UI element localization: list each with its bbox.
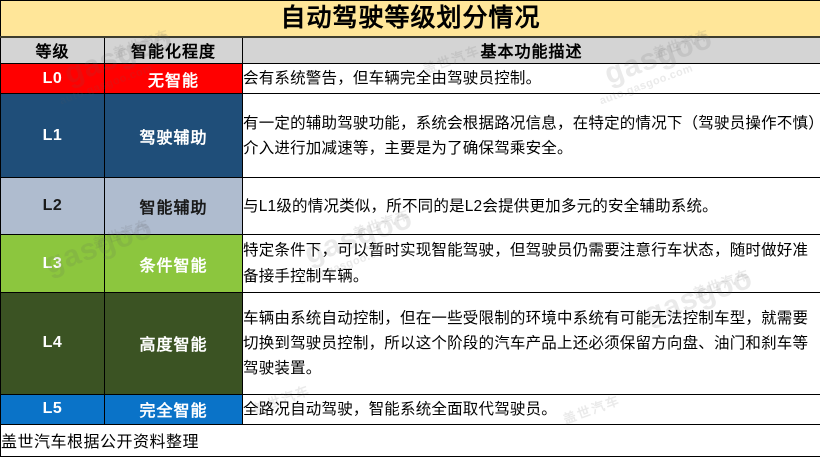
description-cell: 与L1级的情况类似，所不同的是L2会提供更加多元的安全辅助系统。 [243, 178, 820, 235]
table-row: L3 条件智能 特定条件下，可以暂时实现智能驾驶，但驾驶员仍需要注意行车状态，随… [1, 235, 820, 292]
level-cell: L0 [1, 64, 105, 94]
level-label: L5 [43, 400, 63, 417]
level-cell: L4 [1, 292, 105, 394]
description-text: 有一定的辅助驾驶功能，系统会根据路况信息，在特定的情况下（驾驶员操作不慎）介入进… [243, 111, 820, 161]
level-label: L0 [43, 70, 63, 87]
level-label: L2 [43, 197, 63, 214]
title-row: 自动驾驶等级划分情况 [1, 1, 820, 37]
degree-cell: 条件智能 [105, 235, 243, 292]
table-row: L5 完全智能 全路况自动驾驶，智能系统全面取代驾驶员。 [1, 394, 820, 424]
degree-label: 高度智能 [139, 337, 207, 354]
table-row: L4 高度智能 车辆由系统自动控制，但在一些受限制的环境中系统有可能无法控制车型… [1, 292, 820, 394]
degree-label: 智能辅助 [139, 200, 207, 217]
level-label: L3 [43, 255, 63, 272]
description-text: 与L1级的情况类似，所不同的是L2会提供更加多元的安全辅助系统。 [243, 194, 820, 219]
title-cell: 自动驾驶等级划分情况 [1, 1, 820, 37]
column-header-description: 基本功能描述 [243, 37, 820, 64]
level-cell: L5 [1, 394, 105, 424]
level-label: L1 [43, 127, 63, 144]
column-header-level: 等级 [1, 37, 105, 64]
level-label: L4 [43, 334, 63, 351]
degree-cell: 驾驶辅助 [105, 94, 243, 178]
source-note-cell: 盖世汽车根据公开资料整理 [1, 424, 820, 456]
footer-row: 盖世汽车根据公开资料整理 [1, 424, 820, 456]
source-note: 盖世汽车根据公开资料整理 [1, 434, 199, 451]
level-cell: L1 [1, 94, 105, 178]
description-text: 会有系统警告，但车辆完全由驾驶员控制。 [243, 66, 820, 91]
degree-cell: 高度智能 [105, 292, 243, 394]
degree-cell: 智能辅助 [105, 178, 243, 235]
description-cell: 全路况自动驾驶，智能系统全面取代驾驶员。 [243, 394, 820, 424]
description-cell: 车辆由系统自动控制，但在一些受限制的环境中系统有可能无法控制车型，就需要切换到驾… [243, 292, 820, 394]
table-row: L0 无智能 会有系统警告，但车辆完全由驾驶员控制。 [1, 64, 820, 94]
degree-label: 条件智能 [139, 258, 207, 275]
autonomous-driving-levels-table: gasgoo auto.gasgoo.com 盖世汽车 gasgoo auto.… [0, 0, 820, 457]
column-header-degree: 智能化程度 [105, 37, 243, 64]
levels-table: 自动驾驶等级划分情况 等级 智能化程度 基本功能描述 L0 [0, 0, 820, 457]
table-row: L2 智能辅助 与L1级的情况类似，所不同的是L2会提供更加多元的安全辅助系统。 [1, 178, 820, 235]
level-cell: L3 [1, 235, 105, 292]
degree-label: 无智能 [148, 73, 199, 90]
description-cell: 有一定的辅助驾驶功能，系统会根据路况信息，在特定的情况下（驾驶员操作不慎）介入进… [243, 94, 820, 178]
degree-label: 驾驶辅助 [139, 130, 207, 147]
table-row: L1 驾驶辅助 有一定的辅助驾驶功能，系统会根据路况信息，在特定的情况下（驾驶员… [1, 94, 820, 178]
column-header-level-label: 等级 [35, 44, 69, 61]
description-text: 车辆由系统自动控制，但在一些受限制的环境中系统有可能无法控制车型，就需要切换到驾… [243, 306, 820, 381]
column-header-degree-label: 智能化程度 [131, 44, 216, 61]
description-cell: 特定条件下，可以暂时实现智能驾驶，但驾驶员仍需要注意行车状态，随时做好准备接手控… [243, 235, 820, 292]
description-cell: 会有系统警告，但车辆完全由驾驶员控制。 [243, 64, 820, 94]
degree-label: 完全智能 [139, 403, 207, 420]
level-cell: L2 [1, 178, 105, 235]
description-text: 全路况自动驾驶，智能系统全面取代驾驶员。 [243, 397, 820, 422]
page-title: 自动驾驶等级划分情况 [281, 4, 541, 32]
degree-cell: 无智能 [105, 64, 243, 94]
description-text: 特定条件下，可以暂时实现智能驾驶，但驾驶员仍需要注意行车状态，随时做好准备接手控… [243, 238, 820, 288]
header-row: 等级 智能化程度 基本功能描述 [1, 37, 820, 64]
column-header-description-label: 基本功能描述 [481, 44, 583, 61]
degree-cell: 完全智能 [105, 394, 243, 424]
